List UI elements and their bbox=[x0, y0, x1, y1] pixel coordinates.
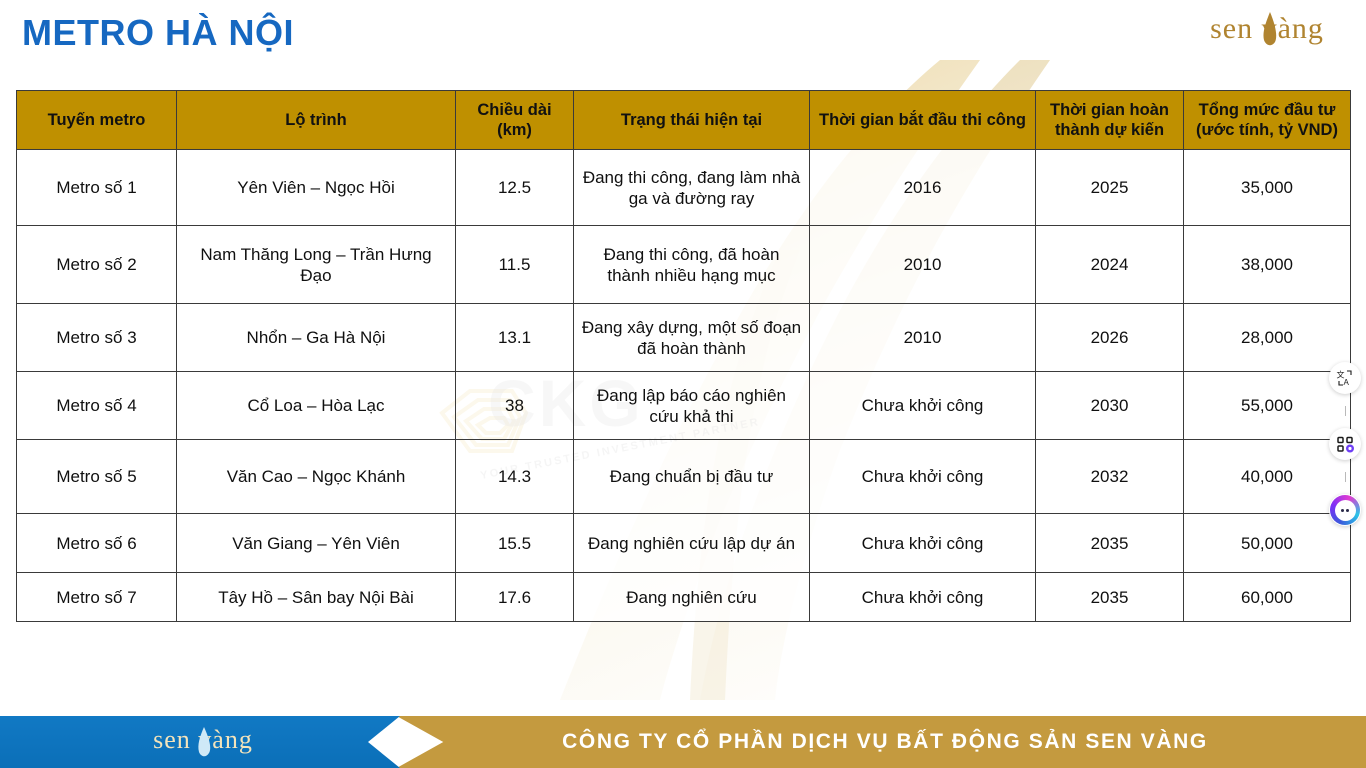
page-title: METRO HÀ NỘI bbox=[22, 12, 294, 54]
cell-length: 15.5 bbox=[456, 514, 574, 573]
footer-bar: sen vàng CÔNG TY CỔ PHẦN DỊCH VỤ BẤT ĐỘN… bbox=[0, 716, 1366, 768]
rail-divider bbox=[1345, 472, 1346, 482]
face-eye-left bbox=[1341, 509, 1344, 512]
cell-start-year: Chưa khởi công bbox=[810, 573, 1036, 622]
translate-icon: 文 A bbox=[1336, 369, 1354, 387]
table-row: Metro số 5 Văn Cao – Ngọc Khánh 14.3 Đan… bbox=[17, 440, 1351, 514]
cell-status: Đang thi công, đã hoàn thành nhiều hạng … bbox=[574, 226, 810, 304]
footer-company-name: CÔNG TY CỔ PHẦN DỊCH VỤ BẤT ĐỘNG SẢN SEN… bbox=[420, 716, 1350, 768]
cell-route: Yên Viên – Ngọc Hồi bbox=[177, 150, 456, 226]
cell-length: 12.5 bbox=[456, 150, 574, 226]
table-row: Metro số 7 Tây Hồ – Sân bay Nội Bài 17.6… bbox=[17, 573, 1351, 622]
cell-investment: 38,000 bbox=[1184, 226, 1351, 304]
cell-finish-year: 2025 bbox=[1036, 150, 1184, 226]
cell-length: 13.1 bbox=[456, 304, 574, 372]
table-row: Metro số 2 Nam Thăng Long – Trần Hưng Đạ… bbox=[17, 226, 1351, 304]
cell-finish-year: 2026 bbox=[1036, 304, 1184, 372]
table-row: Metro số 6 Văn Giang – Yên Viên 15.5 Đan… bbox=[17, 514, 1351, 573]
table-header-row: Tuyến metro Lộ trình Chiều dài (km) Trạn… bbox=[17, 91, 1351, 150]
cell-status: Đang chuẩn bị đầu tư bbox=[574, 440, 810, 514]
cell-finish-year: 2030 bbox=[1036, 372, 1184, 440]
cell-line: Metro số 4 bbox=[17, 372, 177, 440]
cell-status: Đang nghiên cứu lập dự án bbox=[574, 514, 810, 573]
cell-route: Tây Hồ – Sân bay Nội Bài bbox=[177, 573, 456, 622]
cell-status: Đang thi công, đang làm nhà ga và đường … bbox=[574, 150, 810, 226]
brand-logo-senvang: sen vàng bbox=[1182, 8, 1352, 56]
cell-line: Metro số 7 bbox=[17, 573, 177, 622]
cell-finish-year: 2032 bbox=[1036, 440, 1184, 514]
cell-line: Metro số 5 bbox=[17, 440, 177, 514]
qr-scan-icon bbox=[1336, 435, 1355, 454]
cell-length: 11.5 bbox=[456, 226, 574, 304]
cell-length: 17.6 bbox=[456, 573, 574, 622]
assistant-button[interactable] bbox=[1329, 494, 1361, 526]
cell-status: Đang xây dựng, một số đoạn đã hoàn thành bbox=[574, 304, 810, 372]
metro-lines-table: Tuyến metro Lộ trình Chiều dài (km) Trạn… bbox=[16, 90, 1351, 622]
footer-lotus-leaf-icon bbox=[128, 725, 278, 765]
column-header-length: Chiều dài (km) bbox=[456, 91, 574, 150]
cell-start-year: Chưa khởi công bbox=[810, 514, 1036, 573]
cell-length: 14.3 bbox=[456, 440, 574, 514]
slide-canvas: METRO HÀ NỘI sen vàng CKG YOUR TRUSTED I… bbox=[0, 0, 1366, 768]
extension-button-rail: 文 A bbox=[1326, 362, 1364, 526]
cell-line: Metro số 1 bbox=[17, 150, 177, 226]
cell-route: Văn Cao – Ngọc Khánh bbox=[177, 440, 456, 514]
column-header-route: Lộ trình bbox=[177, 91, 456, 150]
cell-route: Cổ Loa – Hòa Lạc bbox=[177, 372, 456, 440]
cell-line: Metro số 2 bbox=[17, 226, 177, 304]
lotus-leaf-icon bbox=[1182, 8, 1352, 56]
table-row: Metro số 4 Cổ Loa – Hòa Lạc 38 Đang lập … bbox=[17, 372, 1351, 440]
column-header-finish-year: Thời gian hoàn thành dự kiến bbox=[1036, 91, 1184, 150]
cell-start-year: 2016 bbox=[810, 150, 1036, 226]
cell-status: Đang lập báo cáo nghiên cứu khả thi bbox=[574, 372, 810, 440]
rail-divider bbox=[1345, 406, 1346, 416]
cell-investment: 60,000 bbox=[1184, 573, 1351, 622]
cell-start-year: 2010 bbox=[810, 304, 1036, 372]
cell-finish-year: 2035 bbox=[1036, 514, 1184, 573]
svg-text:A: A bbox=[1344, 378, 1350, 387]
cell-status: Đang nghiên cứu bbox=[574, 573, 810, 622]
column-header-start-year: Thời gian bắt đầu thi công bbox=[810, 91, 1036, 150]
translate-button[interactable]: 文 A bbox=[1329, 362, 1361, 394]
table-row: Metro số 1 Yên Viên – Ngọc Hồi 12.5 Đang… bbox=[17, 150, 1351, 226]
cell-finish-year: 2035 bbox=[1036, 573, 1184, 622]
cell-start-year: Chưa khởi công bbox=[810, 372, 1036, 440]
face-eye-right bbox=[1346, 509, 1349, 512]
column-header-line: Tuyến metro bbox=[17, 91, 177, 150]
cell-route: Nam Thăng Long – Trần Hưng Đạo bbox=[177, 226, 456, 304]
assistant-face-icon bbox=[1330, 495, 1360, 525]
cell-length: 38 bbox=[456, 372, 574, 440]
cell-line: Metro số 3 bbox=[17, 304, 177, 372]
column-header-status: Trạng thái hiện tại bbox=[574, 91, 810, 150]
cell-route: Nhổn – Ga Hà Nội bbox=[177, 304, 456, 372]
cell-line: Metro số 6 bbox=[17, 514, 177, 573]
qr-scan-button[interactable] bbox=[1329, 428, 1361, 460]
table-row: Metro số 3 Nhổn – Ga Hà Nội 13.1 Đang xâ… bbox=[17, 304, 1351, 372]
column-header-investment: Tổng mức đầu tư (ước tính, tỷ VND) bbox=[1184, 91, 1351, 150]
cell-route: Văn Giang – Yên Viên bbox=[177, 514, 456, 573]
cell-finish-year: 2024 bbox=[1036, 226, 1184, 304]
cell-start-year: 2010 bbox=[810, 226, 1036, 304]
cell-investment: 35,000 bbox=[1184, 150, 1351, 226]
cell-start-year: Chưa khởi công bbox=[810, 440, 1036, 514]
